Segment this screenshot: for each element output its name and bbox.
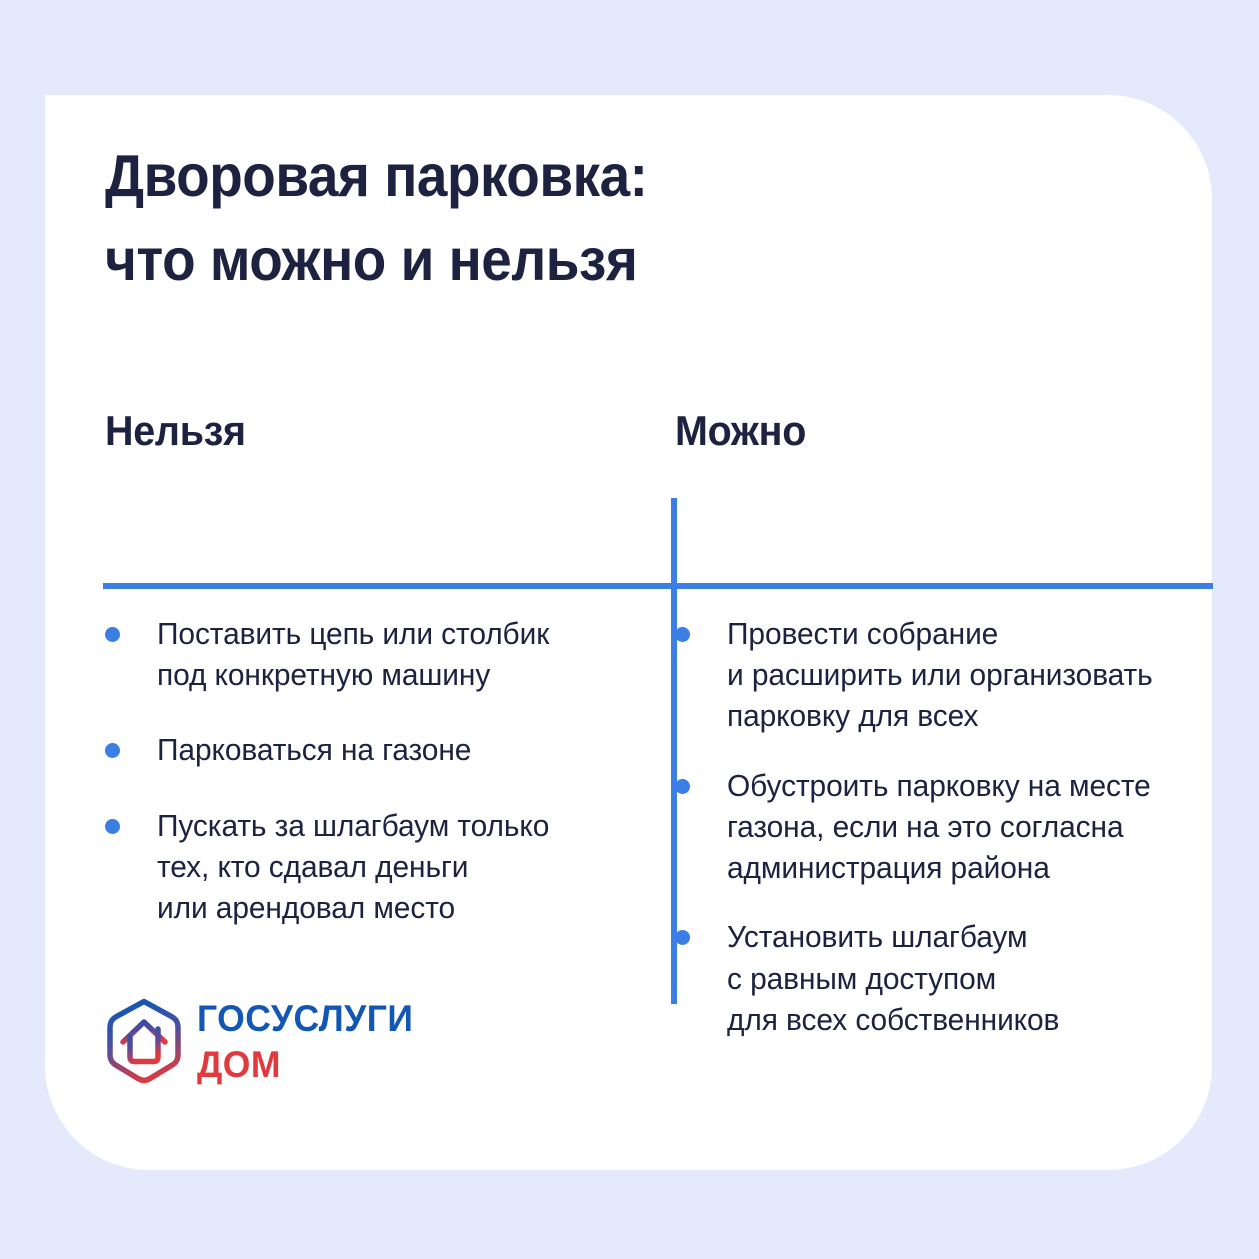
header-rule-left <box>103 583 691 589</box>
list-item-label: Парковаться на газоне <box>157 729 471 770</box>
content-card: Дворовая парковка: что можно и нельзя Не… <box>45 95 1212 1170</box>
list-item-label: Провести собрание и расширить или органи… <box>727 613 1153 737</box>
page-title: Дворовая парковка: что можно и нельзя <box>105 135 942 303</box>
comparison-table: Нельзя Поставить цепь или столбик под ко… <box>105 402 1195 1022</box>
bullet-icon <box>105 743 120 758</box>
list-prohibited: Поставить цепь или столбик под конкретну… <box>105 613 645 962</box>
bullet-icon <box>675 627 690 642</box>
house-hexagon-icon <box>105 997 183 1085</box>
page-title-line-2: что можно и нельзя <box>105 219 942 303</box>
list-item: Обустроить парковку на месте газона, есл… <box>675 765 1195 889</box>
gosuslugi-dom-logo: ГОСУСЛУГИ ДОМ <box>105 997 422 1085</box>
column-header-prohibited: Нельзя <box>105 402 613 452</box>
list-item-label: Пускать за шлагбаум только тех, кто сдав… <box>157 805 549 929</box>
header-rule-right <box>675 583 1213 589</box>
list-allowed: Провести собрание и расширить или органи… <box>675 613 1195 1068</box>
bullet-icon <box>675 930 690 945</box>
logo-wordmark: ГОСУСЛУГИ ДОМ <box>197 1000 422 1083</box>
page-title-line-1: Дворовая парковка: <box>105 135 942 219</box>
bullet-icon <box>105 819 120 834</box>
list-item-label: Поставить цепь или столбик под конкретну… <box>157 613 549 695</box>
list-item: Пускать за шлагбаум только тех, кто сдав… <box>105 805 645 929</box>
list-item: Поставить цепь или столбик под конкретну… <box>105 613 645 695</box>
logo-word-dom: ДОМ <box>197 1046 413 1083</box>
column-prohibited: Нельзя Поставить цепь или столбик под ко… <box>105 402 645 452</box>
list-item: Провести собрание и расширить или органи… <box>675 613 1195 737</box>
column-header-allowed: Можно <box>675 402 1164 452</box>
bullet-icon <box>675 779 690 794</box>
column-allowed: Можно Провести собрание и расширить или … <box>675 402 1195 452</box>
bullet-icon <box>105 627 120 642</box>
list-item-label: Обустроить парковку на месте газона, есл… <box>727 765 1151 889</box>
list-item: Парковаться на газоне <box>105 729 645 770</box>
list-item-label: Установить шлагбаум с равным доступом дл… <box>727 916 1059 1040</box>
list-item: Установить шлагбаум с равным доступом дл… <box>675 916 1195 1040</box>
logo-word-gosuslugi: ГОСУСЛУГИ <box>197 1000 413 1037</box>
